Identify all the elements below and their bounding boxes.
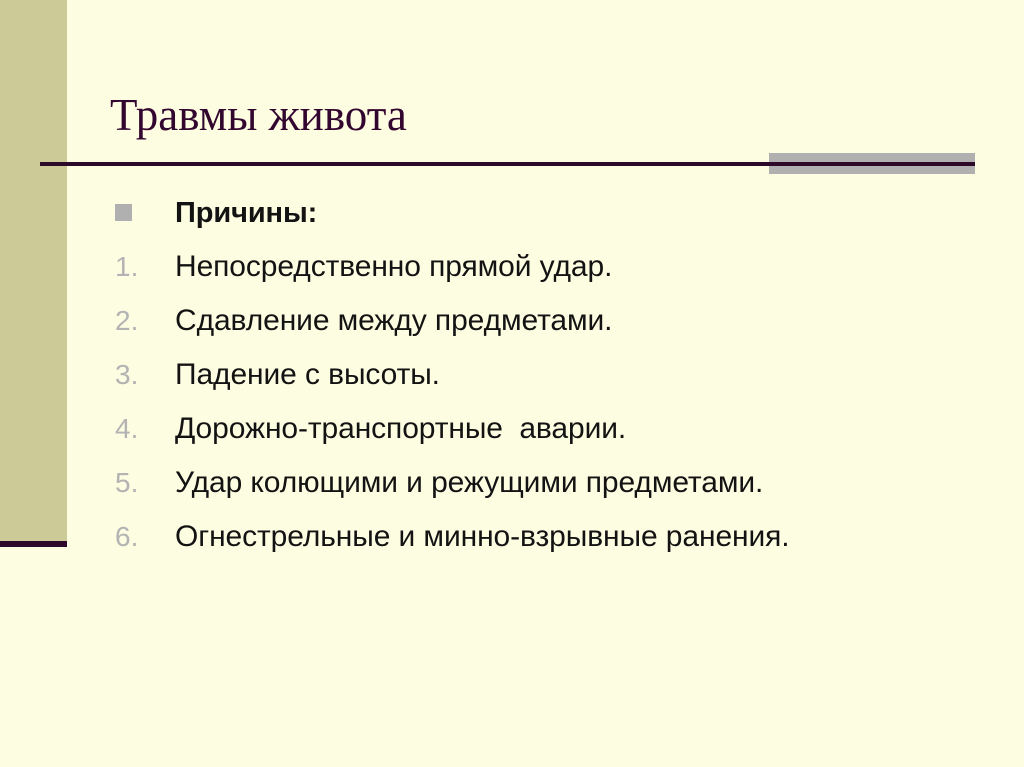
list-item-number: 2. xyxy=(115,294,163,348)
list-item: 2.Сдавление между предметами. xyxy=(0,294,1024,348)
list-item-text: Причины: xyxy=(175,186,874,240)
list-item: 6.Огнестрельные и минно-взрывные ранения… xyxy=(0,510,1024,564)
slide-title: Травмы живота xyxy=(110,87,970,143)
list-item: 1.Непосредственно прямой удар. xyxy=(0,240,1024,294)
list-item: 4.Дорожно-транспортные аварии. xyxy=(0,402,1024,456)
list-item-number: 5. xyxy=(115,456,163,510)
list-item-text: Огнестрельные и минно-взрывные ранения. xyxy=(175,510,839,564)
list-item-text: Удар колющими и режущими предметами. xyxy=(175,456,839,510)
list-item-text: Падение с высоты. xyxy=(175,348,874,402)
list-item-number: 4. xyxy=(115,402,163,456)
list-item-number: 3. xyxy=(115,348,163,402)
list-item-text: Непосредственно прямой удар. xyxy=(175,240,874,294)
list-item: 3.Падение с высоты. xyxy=(0,348,1024,402)
list-item: Причины: xyxy=(0,186,1024,240)
content-list: Причины:1.Непосредственно прямой удар.2.… xyxy=(0,186,1024,564)
list-item-text: Дорожно-транспортные аварии. xyxy=(175,402,874,456)
slide-canvas: Травмы живота Причины:1.Непосредственно … xyxy=(0,0,1024,767)
square-glyph xyxy=(115,204,132,221)
list-item-text: Сдавление между предметами. xyxy=(175,294,874,348)
square-bullet-icon xyxy=(115,186,163,240)
list-item: 5.Удар колющими и режущими предметами. xyxy=(0,456,1024,510)
header-accent-rule xyxy=(40,162,975,166)
list-item-number: 1. xyxy=(115,240,163,294)
list-item-number: 6. xyxy=(115,510,163,564)
